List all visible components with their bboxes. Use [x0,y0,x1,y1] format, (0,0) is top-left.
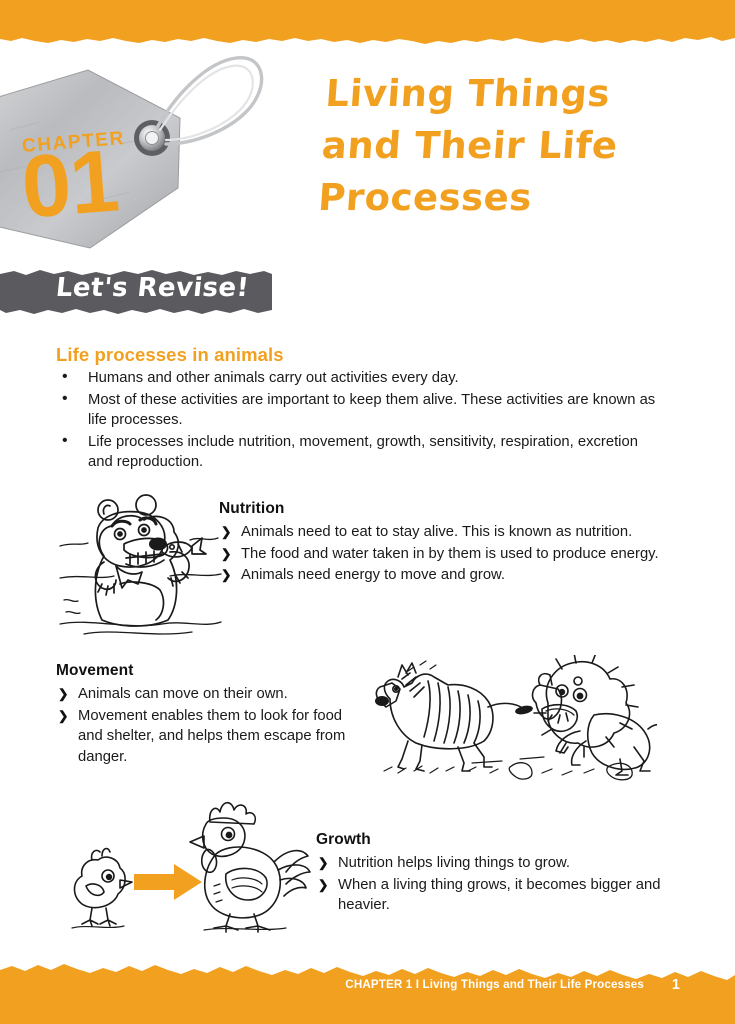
lion-chasing-zebra-illustration [372,655,657,783]
list-item: When a living thing grows, it becomes bi… [316,875,716,916]
top-orange-band [0,0,735,48]
bear-eating-fish-icon [58,488,223,638]
footer-chapter-text: CHAPTER 1 I Living Things and Their Life… [345,978,644,991]
subsection-movement: Movement Animals can move on their own. … [56,662,366,768]
list-item: Animals need energy to move and grow. [219,565,709,586]
page-title-line-2: and Their Life [320,120,724,172]
list-item: The food and water taken in by them is u… [219,544,709,565]
subsection-title-growth: Growth [316,831,716,849]
list-item: Nutrition helps living things to grow. [316,853,716,874]
subsection-growth: Growth Nutrition helps living things to … [316,831,716,917]
list-item: Life processes include nutrition, moveme… [56,432,656,473]
lets-revise-banner: Let's Revise! [0,268,272,316]
top-torn-edge-icon [0,0,735,48]
nutrition-point-list: Animals need to eat to stay alive. This … [219,522,709,586]
list-item: Animals can move on their own. [56,684,366,705]
chick-to-hen-growth-icon [62,792,320,934]
list-item: Most of these activities are important t… [56,390,656,431]
movement-point-list: Animals can move on their own. Movement … [56,684,366,767]
lion-chasing-zebra-icon [372,655,657,783]
footer-page-number: 1 [672,977,680,993]
list-item: Movement enables them to look for food a… [56,706,366,768]
bear-eating-fish-illustration [58,488,223,638]
subsection-nutrition: Nutrition Animals need to eat to stay al… [219,500,709,587]
lets-revise-label: Let's Revise! [54,273,250,303]
section-heading: Life processes in animals [56,344,284,366]
growth-arrow-icon [134,864,202,900]
growth-point-list: Nutrition helps living things to grow. W… [316,853,716,916]
page-title: Living Things and Their Life Processes [317,68,728,224]
subsection-title-movement: Movement [56,662,366,680]
intro-bullet-list: Humans and other animals carry out activ… [56,368,656,474]
page-title-line-1: Living Things [324,68,728,120]
list-item: Animals need to eat to stay alive. This … [219,522,709,543]
list-item: Humans and other animals carry out activ… [56,368,656,389]
page-title-line-3: Processes [317,172,721,224]
subsection-title-nutrition: Nutrition [219,500,709,518]
chick-to-hen-growth-illustration [62,792,320,934]
